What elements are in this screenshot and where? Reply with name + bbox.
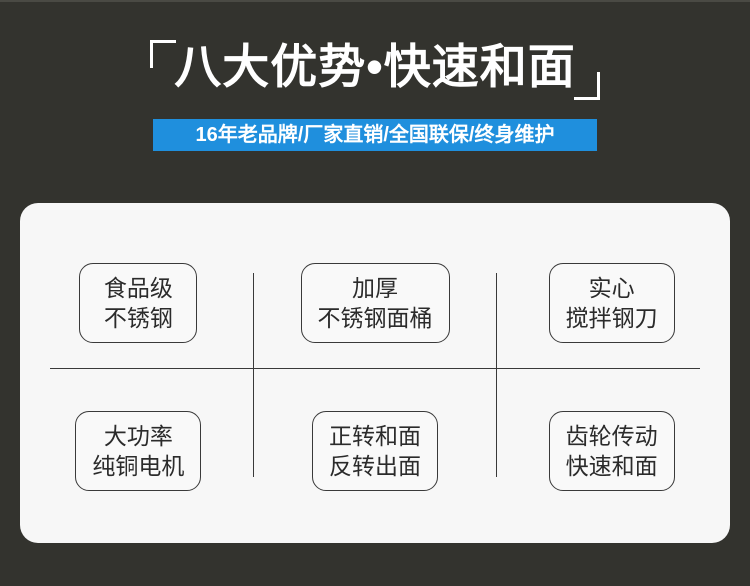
feature-row-1: 食品级 不锈钢 加厚 不锈钢面桶 实心 搅拌钢刀 bbox=[20, 258, 730, 348]
feature-card-line-1: 齿轮传动 bbox=[566, 421, 658, 451]
feature-card-thickened-barrel: 加厚 不锈钢面桶 bbox=[301, 263, 450, 343]
feature-cell: 加厚 不锈钢面桶 bbox=[257, 258, 494, 348]
feature-card-line-1: 食品级 bbox=[96, 273, 180, 303]
feature-card-line-2: 不锈钢 bbox=[96, 303, 180, 333]
features-panel: 食品级 不锈钢 加厚 不锈钢面桶 实心 搅拌钢刀 大功率 纯铜电机 bbox=[20, 203, 730, 543]
feature-card-gear-drive: 齿轮传动 快速和面 bbox=[549, 411, 675, 491]
feature-cell: 食品级 不锈钢 bbox=[20, 258, 257, 348]
feature-cell: 齿轮传动 快速和面 bbox=[493, 406, 730, 496]
subtitle-banner-text: 16年老品牌/厂家直销/全国联保/终身维护 bbox=[196, 119, 555, 151]
feature-card-line-2: 不锈钢面桶 bbox=[318, 303, 433, 333]
title-block: 八大优势•快速和面 bbox=[0, 34, 750, 110]
feature-card-reversible-rotation: 正转和面 反转出面 bbox=[312, 411, 438, 491]
feature-cell: 大功率 纯铜电机 bbox=[20, 406, 257, 496]
feature-card-line-2: 纯铜电机 bbox=[92, 451, 184, 481]
feature-cell: 正转和面 反转出面 bbox=[257, 406, 494, 496]
feature-card-line-1: 加厚 bbox=[318, 273, 433, 303]
feature-card-line-2: 快速和面 bbox=[566, 451, 658, 481]
feature-card-line-2: 搅拌钢刀 bbox=[566, 303, 658, 333]
feature-card-solid-blade: 实心 搅拌钢刀 bbox=[549, 263, 675, 343]
feature-card-line-1: 大功率 bbox=[92, 421, 184, 451]
corner-bracket-right-icon bbox=[574, 72, 600, 100]
page-title: 八大优势•快速和面 bbox=[0, 34, 750, 100]
feature-card-food-grade: 食品级 不锈钢 bbox=[79, 263, 197, 343]
feature-row-2: 大功率 纯铜电机 正转和面 反转出面 齿轮传动 快速和面 bbox=[20, 406, 730, 496]
feature-card-line-1: 正转和面 bbox=[329, 421, 421, 451]
header-banner: 八大优势•快速和面 16年老品牌/厂家直销/全国联保/终身维护 bbox=[0, 0, 750, 180]
subtitle-banner: 16年老品牌/厂家直销/全国联保/终身维护 bbox=[153, 119, 597, 151]
feature-card-line-2: 反转出面 bbox=[329, 451, 421, 481]
feature-cell: 实心 搅拌钢刀 bbox=[493, 258, 730, 348]
feature-card-line-1: 实心 bbox=[566, 273, 658, 303]
horizontal-divider bbox=[50, 368, 700, 369]
feature-card-copper-motor: 大功率 纯铜电机 bbox=[75, 411, 201, 491]
